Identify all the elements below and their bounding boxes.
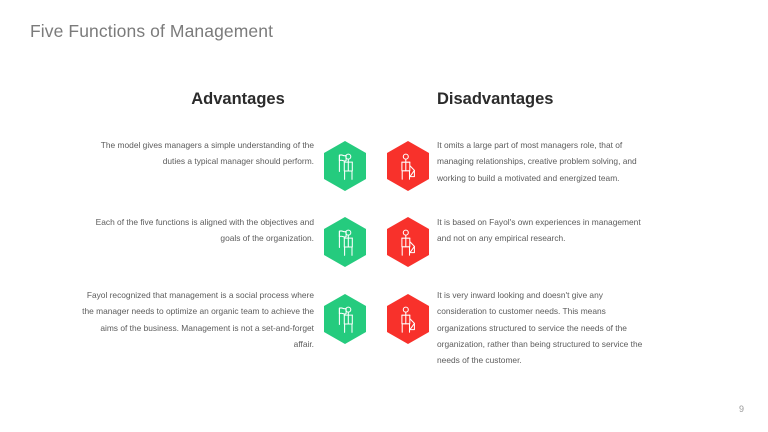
advantage-text: The model gives managers a simple unders… [82,137,314,170]
comparison-rows: The model gives managers a simple unders… [0,0,768,432]
disadvantage-text: It is based on Fayol's own experiences i… [437,214,649,247]
person-with-flag-icon [322,140,368,192]
person-falling-icon [385,140,431,192]
advantage-text: Fayol recognized that management is a so… [82,287,314,352]
person-with-flag-icon [322,216,368,268]
person-falling-icon [385,293,431,345]
disadvantage-text: It omits a large part of most managers r… [437,137,649,186]
page-number: 9 [739,404,744,414]
person-with-flag-icon [322,293,368,345]
slide: Five Functions of Management Advantages … [0,0,768,432]
person-falling-icon [385,216,431,268]
disadvantage-text: It is very inward looking and doesn't gi… [437,287,649,368]
advantage-text: Each of the five functions is aligned wi… [82,214,314,247]
